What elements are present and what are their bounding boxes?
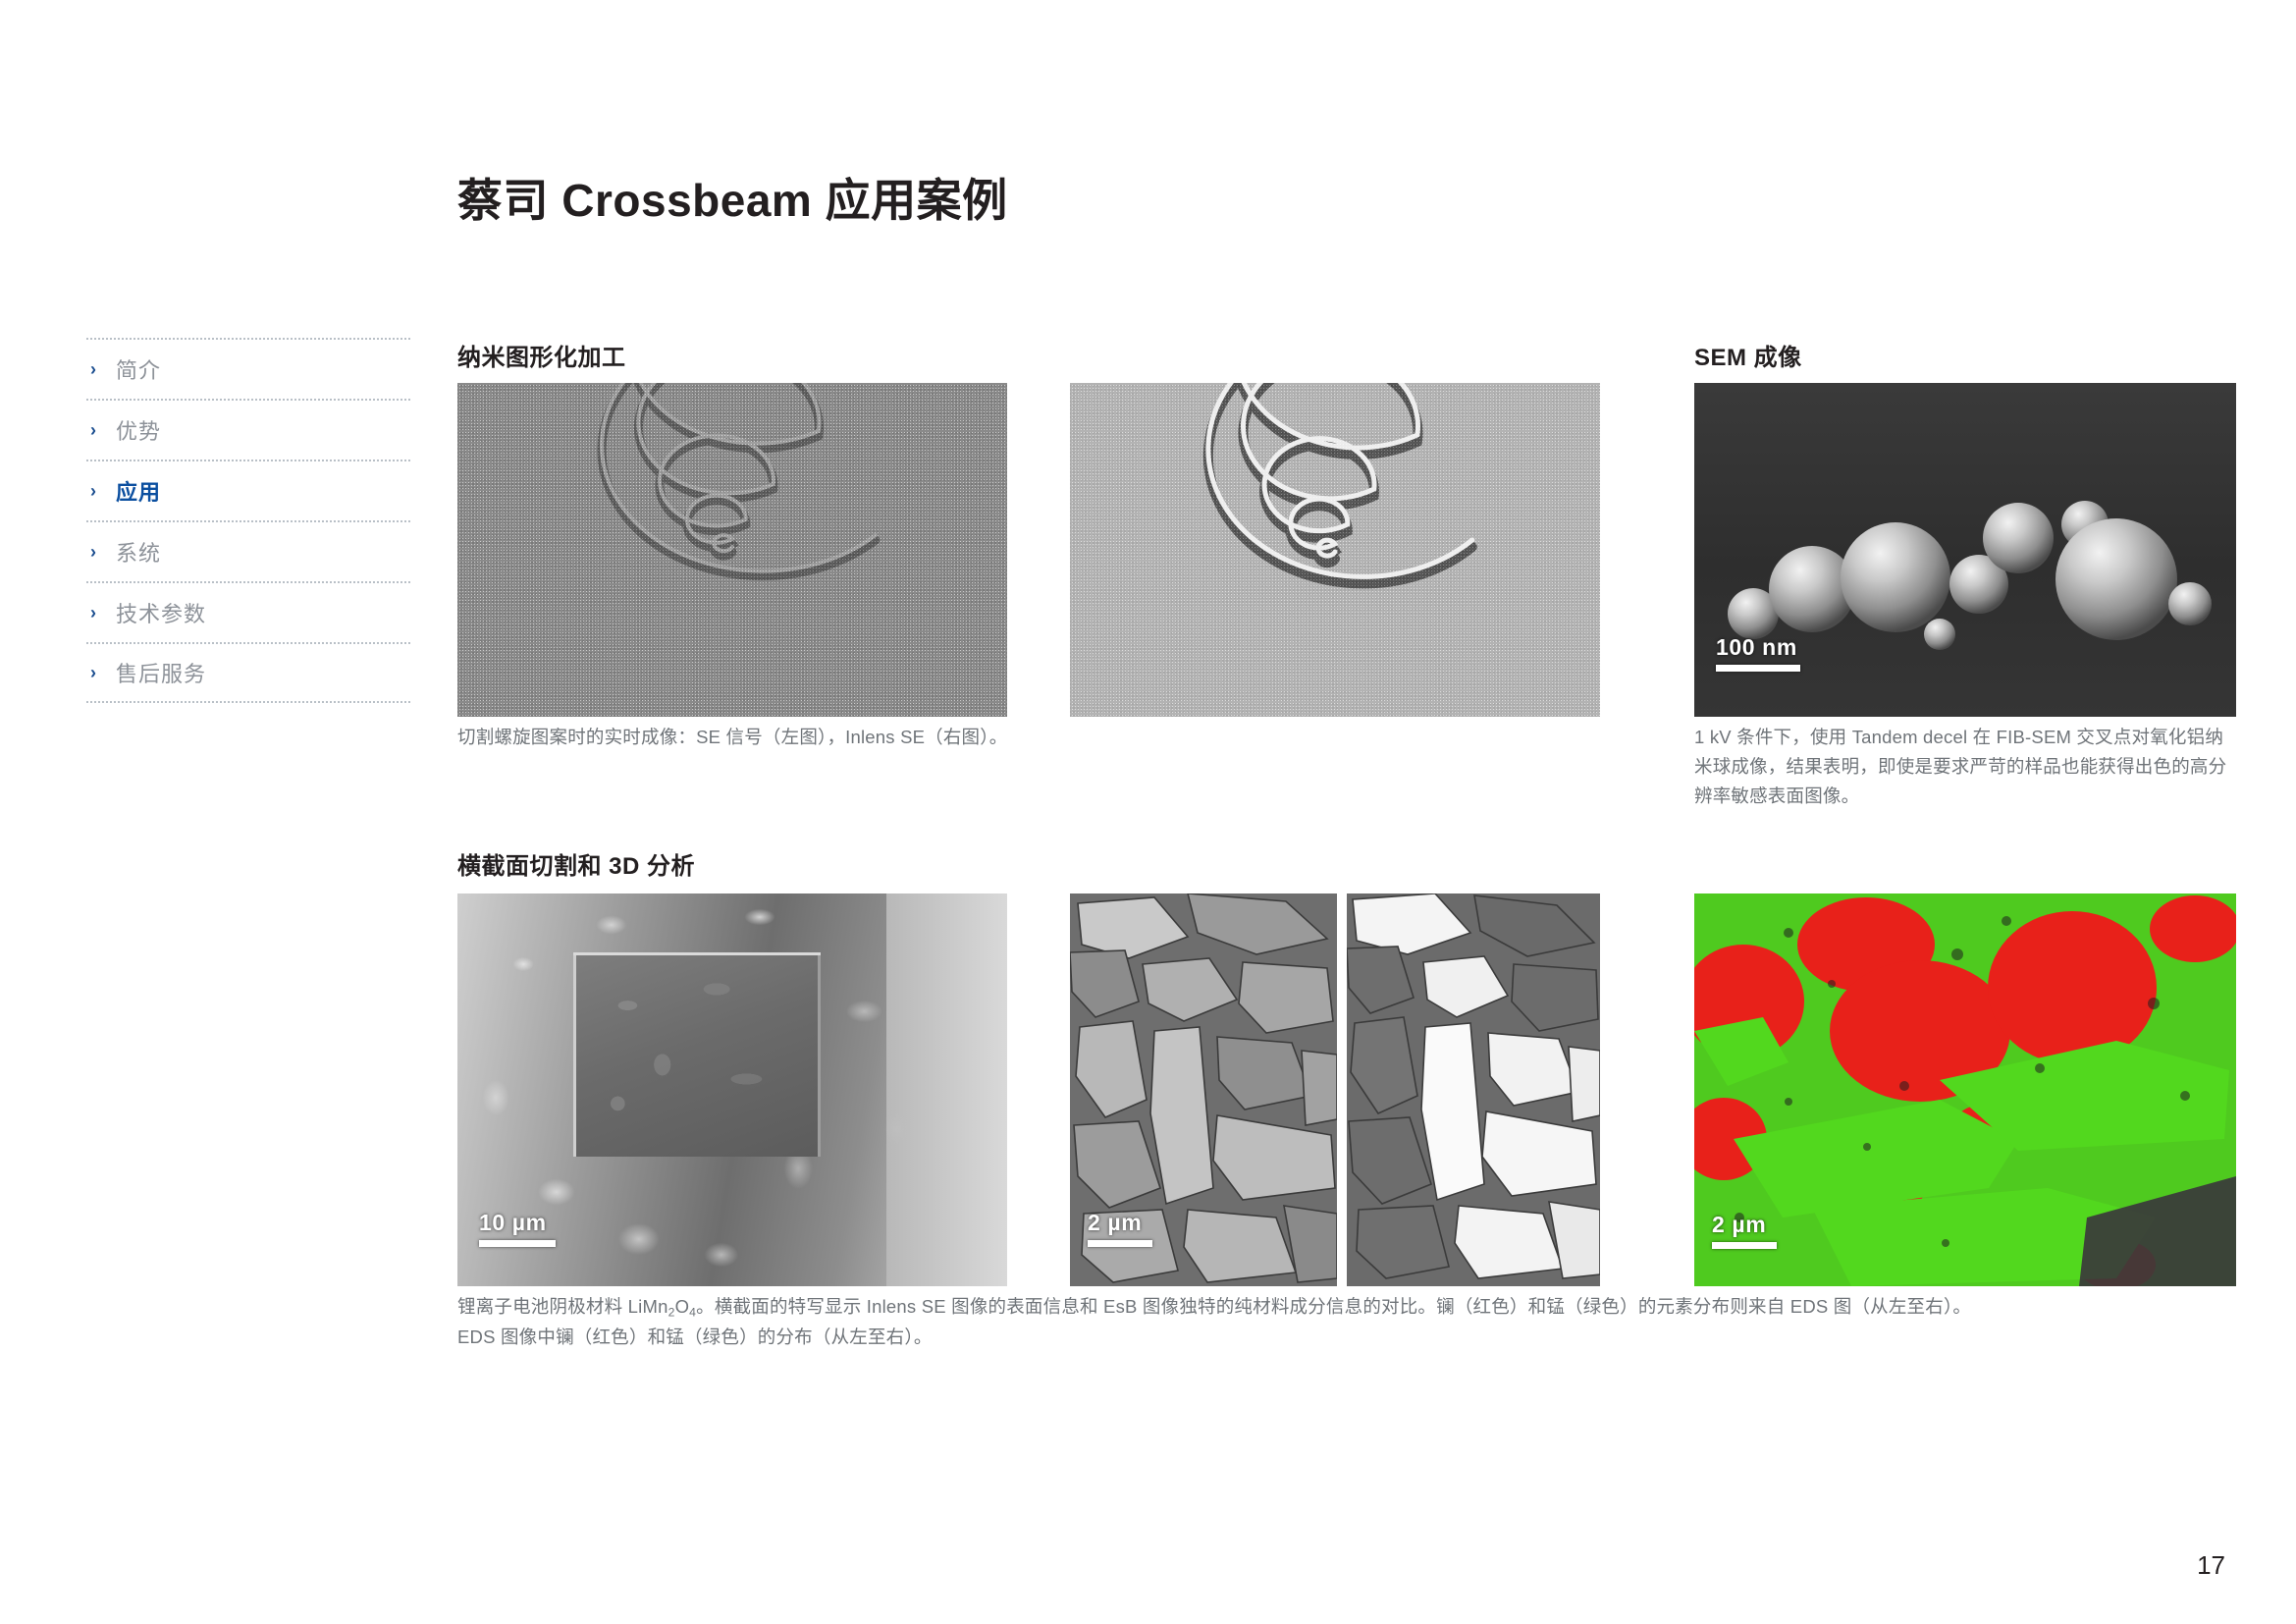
formula-LiMn2O4: LiMn2O4	[628, 1296, 697, 1317]
scalebar-2um-eds: 2 µm	[1712, 1213, 1777, 1249]
figure-inlens-se-detail: 2 µm	[1070, 893, 1337, 1286]
sidebar-item-intro[interactable]: › 简介	[86, 338, 410, 399]
caption-text-post: 。横截面的特写显示 Inlens SE 图像的表面信息和 EsB 图像独特的纯材…	[696, 1296, 1971, 1317]
figure-esb-detail	[1347, 893, 1600, 1286]
chevron-right-icon: ›	[90, 664, 116, 681]
sidebar-item-label: 应用	[116, 475, 161, 507]
brochure-page: 蔡司 Crossbeam 应用案例 › 简介 › 优势 › 应用 › 系统 › …	[0, 0, 2296, 1624]
sidebar-item-advantages[interactable]: › 优势	[86, 399, 410, 460]
image-noise-texture	[1070, 383, 1600, 717]
sidebar-item-applications[interactable]: › 应用	[86, 460, 410, 520]
page-number: 17	[2197, 1550, 2225, 1581]
caption-text-pre: 锂离子电池阴极材料	[457, 1296, 628, 1317]
caption-nanopatterning: 切割螺旋图案时的实时成像：SE 信号（左图），Inlens SE（右图）。	[457, 723, 1665, 752]
scalebar-label: 100 nm	[1716, 635, 1800, 660]
caption-sem-imaging: 1 kV 条件下，使用 Tandem decel 在 FIB-SEM 交叉点对氧…	[1694, 723, 2236, 811]
crosssection-milled-face	[573, 952, 821, 1157]
sidebar-item-label: 售后服务	[116, 657, 206, 688]
chevron-right-icon: ›	[90, 543, 116, 561]
section-heading-nanopatterning: 纳米图形化加工	[457, 338, 626, 372]
section-heading-crosssection: 横截面切割和 3D 分析	[457, 846, 695, 881]
scalebar-label: 2 µm	[1088, 1211, 1152, 1235]
sidebar-item-service[interactable]: › 售后服务	[86, 642, 410, 703]
section-heading-sem-imaging: SEM 成像	[1694, 338, 1802, 372]
esb-particle-fragments	[1347, 893, 1600, 1286]
scalebar-line	[479, 1240, 556, 1247]
figure-eds-element-map: 2 µm	[1694, 893, 2236, 1286]
scalebar-line	[1088, 1240, 1152, 1247]
sidebar-item-label: 系统	[116, 536, 161, 568]
image-noise-texture	[457, 383, 1007, 717]
sidebar-item-specifications[interactable]: › 技术参数	[86, 581, 410, 642]
caption-crosssection-line1: 锂离子电池阴极材料 LiMn2O4。横截面的特写显示 Inlens SE 图像的…	[457, 1296, 1971, 1317]
chevron-right-icon: ›	[90, 604, 116, 622]
scalebar-10um: 10 µm	[479, 1211, 556, 1247]
figure-spiral-inlens-se	[1070, 383, 1600, 717]
sidebar-item-systems[interactable]: › 系统	[86, 520, 410, 581]
scalebar-label: 2 µm	[1712, 1213, 1777, 1237]
caption-crosssection: 锂离子电池阴极材料 LiMn2O4。横截面的特写显示 Inlens SE 图像的…	[457, 1292, 2244, 1352]
scalebar-2um-inlens: 2 µm	[1088, 1211, 1152, 1247]
figure-fib-crosssection: 10 µm	[457, 893, 1007, 1286]
scalebar-label: 10 µm	[479, 1211, 556, 1235]
chevron-right-icon: ›	[90, 421, 116, 439]
figure-spiral-se	[457, 383, 1007, 717]
caption-crosssection-line2: EDS 图像中镧（红色）和锰（绿色）的分布（从左至右）。	[457, 1326, 933, 1347]
chevron-right-icon: ›	[90, 482, 116, 500]
sidebar-item-label: 技术参数	[116, 597, 206, 628]
sidebar-nav: › 简介 › 优势 › 应用 › 系统 › 技术参数 › 售后服务	[86, 338, 410, 703]
scalebar-100nm: 100 nm	[1716, 635, 1800, 672]
page-title: 蔡司 Crossbeam 应用案例	[457, 165, 1008, 230]
sidebar-item-label: 简介	[116, 353, 161, 385]
sidebar-item-label: 优势	[116, 414, 161, 446]
scalebar-line	[1712, 1242, 1777, 1249]
figure-sem-alumina-nanospheres: 100 nm	[1694, 383, 2236, 717]
scalebar-line	[1716, 665, 1800, 672]
milled-face-grains	[573, 952, 821, 1157]
chevron-right-icon: ›	[90, 360, 116, 378]
